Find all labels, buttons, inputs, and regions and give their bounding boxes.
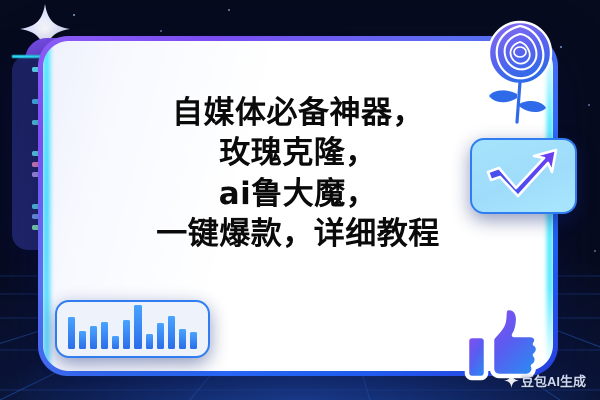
chart-bar [157,323,164,349]
headline-line-4: 一键爆款，详细教程 [43,214,553,254]
trending-up-badge [470,138,577,214]
chart-bar [134,305,141,349]
watermark: 豆包AI生成 [504,371,586,390]
chart-bar [179,329,186,349]
chart-bar [146,334,153,349]
watermark-sparkle-icon [504,373,519,388]
chart-bar [168,316,175,349]
chart-bar [123,320,130,349]
chart-bar [68,317,75,349]
chart-bar [190,332,197,349]
chart-bar [101,322,108,349]
star-dot [594,250,596,252]
star-dot [588,104,590,106]
bar-chart-badge [55,300,210,358]
rose-icon [477,18,563,126]
chart-bar [112,336,119,349]
star-dot [228,9,230,11]
poster-canvas: 自媒体必备神器， 玫瑰克隆， ai鲁大魔， 一键爆款，详细教程 [0,0,600,400]
watermark-text: 豆包AI生成 [521,371,586,390]
star-dot [160,30,162,32]
chart-bar [79,331,86,349]
chart-bar [90,326,97,349]
star-dot [73,14,75,16]
trending-up-arrow-icon [482,146,564,204]
